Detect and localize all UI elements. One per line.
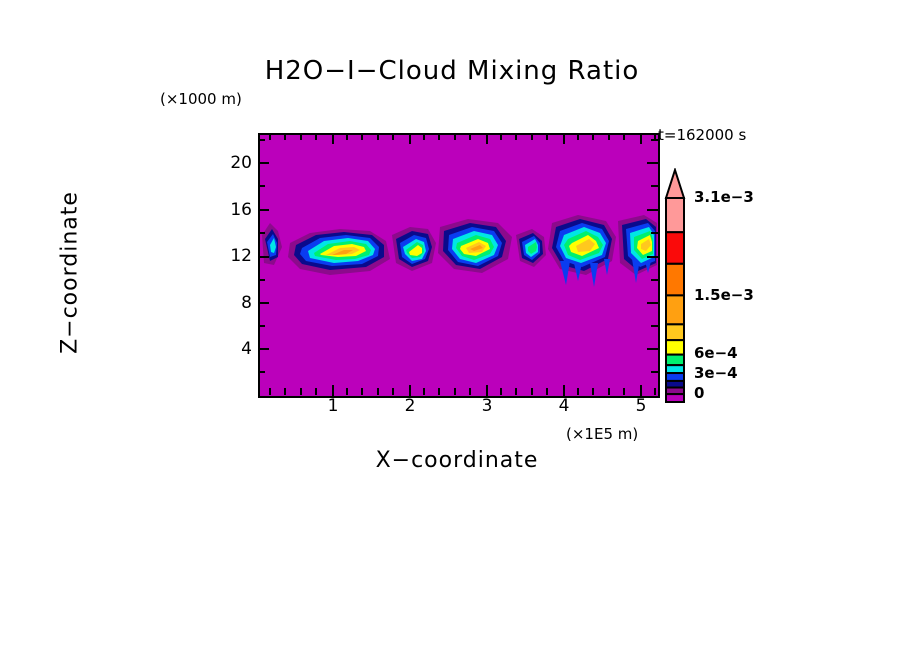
colorbar-label-4: 0: [694, 384, 704, 402]
y-minor-tick-4: [258, 371, 265, 373]
x-minor-tick-top: [577, 133, 579, 140]
x-major-tick-top-1: [409, 133, 411, 144]
x-minor-tick: [392, 388, 394, 395]
x-minor-tick-top: [346, 133, 348, 140]
y-tick-label-20: 20: [218, 153, 252, 173]
y-major-tick-right-0: [647, 162, 658, 164]
x-minor-tick-top: [284, 133, 286, 140]
colorbar-label-0: 3.1e−3: [694, 188, 754, 206]
x-major-tick-top-2: [486, 133, 488, 144]
colorbar-band-2: [666, 264, 684, 296]
x-minor-tick: [300, 388, 302, 395]
colorbar-band-6: [666, 355, 684, 366]
x-minor-tick-top: [300, 133, 302, 140]
x-tick-label-5: 5: [626, 396, 656, 416]
x-minor-tick-top: [361, 133, 363, 140]
colorbar-band-3: [666, 295, 684, 324]
y-major-tick-right-3: [647, 302, 658, 304]
x-minor-tick: [654, 388, 656, 395]
y-minor-tick-right-5: [651, 139, 658, 141]
x-minor-tick-top: [531, 133, 533, 140]
x-minor-tick-top: [546, 133, 548, 140]
y-major-tick-right-2: [647, 256, 658, 258]
x-minor-tick-top: [423, 133, 425, 140]
colorbar-label-3: 3e−4: [694, 364, 738, 382]
x-minor-tick: [315, 388, 317, 395]
y-minor-tick-right-4: [651, 371, 658, 373]
colorbar-label-2: 6e−4: [694, 344, 738, 362]
x-minor-tick: [515, 388, 517, 395]
y-axis-title: Z−coordinate: [58, 143, 83, 403]
x-minor-tick-top: [592, 133, 594, 140]
x-tick-label-2: 2: [395, 396, 425, 416]
colorbar-band-1: [666, 232, 684, 264]
x-major-tick-top-0: [332, 133, 334, 144]
x-major-tick-4: [640, 385, 642, 396]
x-minor-tick: [361, 388, 363, 395]
colorbar-band-4: [666, 324, 684, 340]
x-minor-tick: [469, 388, 471, 395]
y-axis-unit-label: (×1000 m): [160, 90, 242, 108]
x-minor-tick-top: [515, 133, 517, 140]
y-minor-tick-right-0: [651, 185, 658, 187]
y-major-tick-1: [258, 209, 269, 211]
x-axis-unit-label: (×1E5 m): [566, 425, 638, 443]
x-major-tick-top-4: [640, 133, 642, 144]
y-minor-tick-1: [258, 232, 265, 234]
y-minor-tick-3: [258, 325, 265, 327]
y-major-tick-right-4: [647, 348, 658, 350]
colorbar-band-7: [666, 365, 684, 373]
x-minor-tick: [500, 388, 502, 395]
y-tick-label-16: 16: [218, 200, 252, 220]
x-minor-tick-top: [469, 133, 471, 140]
x-minor-tick: [592, 388, 594, 395]
x-tick-label-1: 1: [318, 396, 348, 416]
colorbar-label-1: 1.5e−3: [694, 286, 754, 304]
x-minor-tick-top: [454, 133, 456, 140]
y-minor-tick-0: [258, 185, 265, 187]
x-minor-tick: [269, 388, 271, 395]
x-minor-tick: [423, 388, 425, 395]
x-minor-tick: [438, 388, 440, 395]
cloud-field-heatmap: [260, 135, 658, 396]
x-minor-tick: [454, 388, 456, 395]
colorbar-band-0: [666, 198, 684, 232]
time-label: t=162000 s: [658, 126, 746, 144]
colorbar-band-11: [666, 394, 684, 402]
x-tick-label-3: 3: [472, 396, 502, 416]
colorbar-arrow-icon: [666, 170, 684, 198]
x-major-tick-1: [409, 385, 411, 396]
x-axis-title: X−coordinate: [258, 448, 656, 473]
x-minor-tick: [546, 388, 548, 395]
y-major-tick-2: [258, 256, 269, 258]
x-minor-tick: [377, 388, 379, 395]
y-tick-label-4: 4: [218, 339, 252, 359]
y-major-tick-right-1: [647, 209, 658, 211]
x-minor-tick-top: [315, 133, 317, 140]
x-tick-label-4: 4: [549, 396, 579, 416]
x-major-tick-0: [332, 385, 334, 396]
plot-area: [258, 133, 660, 398]
x-minor-tick: [623, 388, 625, 395]
colorbar: [664, 168, 690, 408]
x-minor-tick-top: [608, 133, 610, 140]
x-major-tick-2: [486, 385, 488, 396]
y-minor-tick-2: [258, 279, 265, 281]
x-minor-tick: [531, 388, 533, 395]
x-minor-tick: [608, 388, 610, 395]
x-minor-tick-top: [500, 133, 502, 140]
colorbar-band-8: [666, 373, 684, 381]
y-minor-tick-5: [258, 139, 265, 141]
x-minor-tick: [284, 388, 286, 395]
x-minor-tick: [577, 388, 579, 395]
y-tick-label-8: 8: [218, 293, 252, 313]
y-minor-tick-right-1: [651, 232, 658, 234]
colorbar-band-5: [666, 340, 684, 354]
y-major-tick-0: [258, 162, 269, 164]
y-minor-tick-right-2: [651, 279, 658, 281]
x-major-tick-top-3: [563, 133, 565, 144]
x-major-tick-3: [563, 385, 565, 396]
y-minor-tick-right-3: [651, 325, 658, 327]
page-title: H2O−I−Cloud Mixing Ratio: [0, 56, 904, 86]
x-minor-tick-top: [623, 133, 625, 140]
x-minor-tick: [346, 388, 348, 395]
x-minor-tick-top: [377, 133, 379, 140]
x-minor-tick-top: [438, 133, 440, 140]
x-minor-tick-top: [269, 133, 271, 140]
x-minor-tick-top: [392, 133, 394, 140]
y-tick-label-12: 12: [218, 246, 252, 266]
colorbar-swatches: [664, 168, 690, 404]
y-major-tick-4: [258, 348, 269, 350]
y-major-tick-3: [258, 302, 269, 304]
